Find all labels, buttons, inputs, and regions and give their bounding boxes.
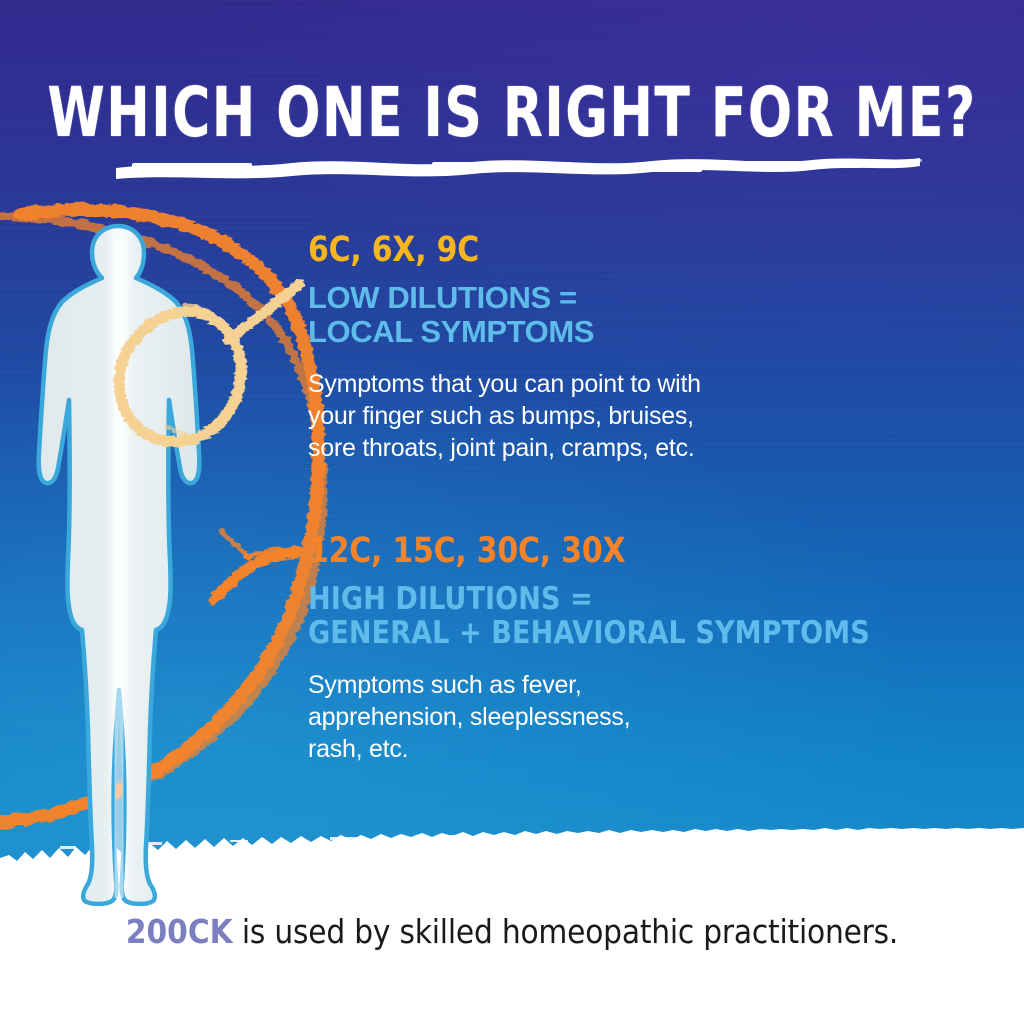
- torn-paint-bottom-edge-icon: [0, 828, 1024, 884]
- dilution-label-low: LOW DILUTIONS = LOCAL SYMPTOMS: [308, 281, 701, 349]
- dilution-label-high-line2: GENERAL + BEHAVIORAL SYMPTOMS: [308, 616, 870, 650]
- footer-note-text: is used by skilled homeopathic practitio…: [233, 912, 899, 951]
- dilution-block-low: 6C, 6X, 9C LOW DILUTIONS = LOCAL SYMPTOM…: [308, 233, 701, 464]
- dilution-label-high-line1: HIGH DILUTIONS =: [308, 582, 870, 616]
- page-title: WHICH ONE IS RIGHT FOR ME?: [0, 78, 1024, 138]
- infographic-poster: WHICH ONE IS RIGHT FOR ME? 6C, 6X, 9C LO…: [0, 0, 1024, 1024]
- dilution-block-high: 12C, 15C, 30C, 30X HIGH DILUTIONS = GENE…: [308, 534, 887, 765]
- dilution-label-high: HIGH DILUTIONS = GENERAL + BEHAVIORAL SY…: [308, 582, 870, 650]
- white-brush-underline-icon: [112, 152, 924, 186]
- potency-list-high: 12C, 15C, 30C, 30X: [308, 534, 858, 569]
- potency-list-low: 6C, 6X, 9C: [308, 233, 681, 268]
- description-low: Symptoms that you can point to with your…: [308, 368, 701, 464]
- dilution-label-low-line1: LOW DILUTIONS =: [308, 281, 701, 315]
- footer-potency-label: 200CK: [126, 912, 233, 951]
- footer-note: 200CK is used by skilled homeopathic pra…: [0, 912, 1024, 951]
- page-title-text: WHICH ONE IS RIGHT FOR ME?: [10, 78, 1014, 148]
- dilution-label-low-line2: LOCAL SYMPTOMS: [308, 315, 701, 349]
- description-high: Symptoms such as fever, apprehension, sl…: [308, 669, 887, 765]
